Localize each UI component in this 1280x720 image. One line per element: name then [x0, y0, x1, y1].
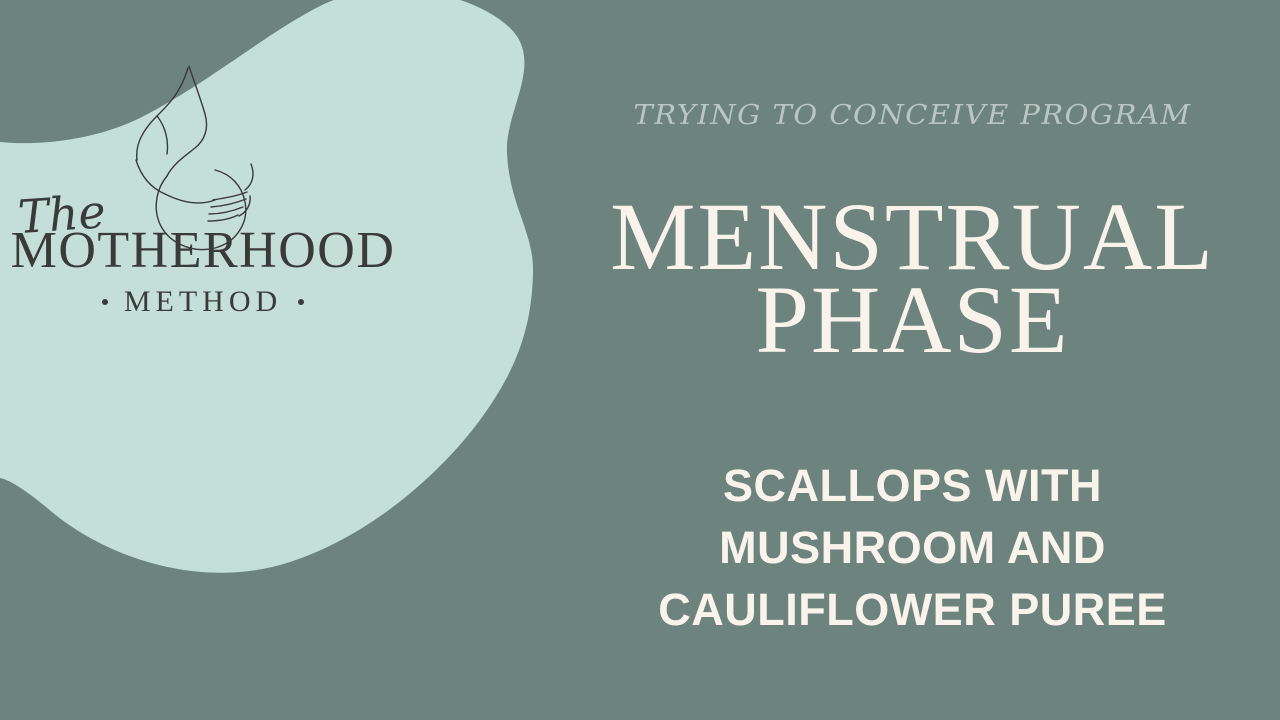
logo-dot-right-icon: [298, 299, 304, 305]
brand-logo: The MOTHERHOOD METHOD: [0, 60, 420, 370]
logo-method-text: METHOD: [124, 287, 282, 317]
phase-headline: MENSTRUAL PHASE: [545, 196, 1280, 361]
recipe-title-line-3: CAULIFLOWER PUREE: [545, 579, 1280, 641]
slide-canvas: The MOTHERHOOD METHOD TRYING TO CONCEIVE…: [0, 0, 1280, 720]
program-eyebrow-label: TRYING TO CONCEIVE PROGRAM: [545, 99, 1280, 130]
logo-dot-left-icon: [102, 299, 108, 305]
recipe-title: SCALLOPS WITH MUSHROOM AND CAULIFLOWER P…: [545, 455, 1280, 641]
content-column: TRYING TO CONCEIVE PROGRAM MENSTRUAL PHA…: [545, 0, 1280, 720]
recipe-title-line-2: MUSHROOM AND: [545, 517, 1280, 579]
headline-line-2: PHASE: [545, 279, 1280, 362]
logo-method-row: METHOD: [6, 287, 400, 317]
logo-wordmark: The MOTHERHOOD METHOD: [0, 190, 400, 317]
logo-the-text: The: [17, 186, 140, 240]
recipe-title-line-1: SCALLOPS WITH: [545, 455, 1280, 517]
